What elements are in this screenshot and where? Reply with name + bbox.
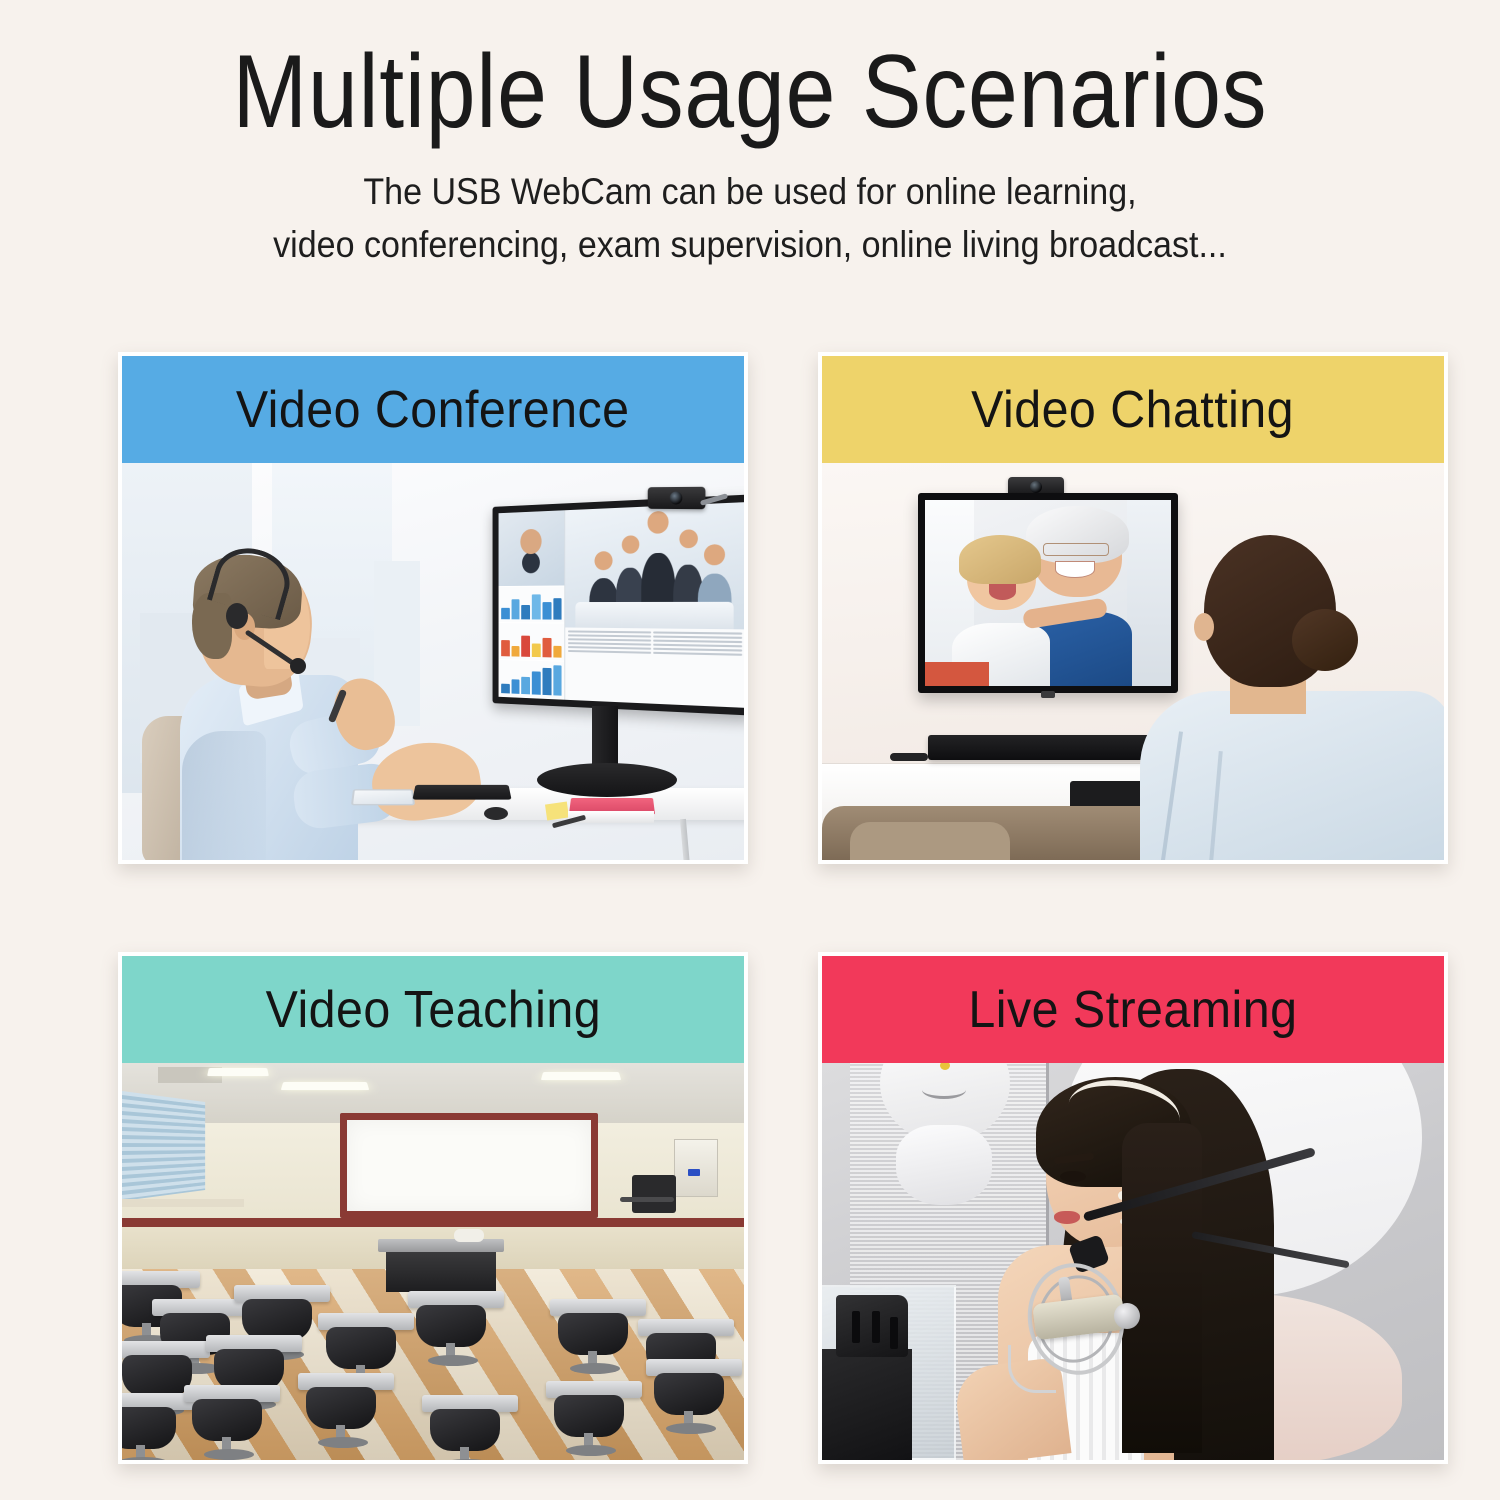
- tv-screen: [925, 500, 1171, 686]
- grandmother-glasses: [1043, 543, 1109, 556]
- photo-video-teaching: [122, 1063, 744, 1460]
- streamer-eye: [1060, 1171, 1086, 1182]
- man-shirt-shading: [182, 731, 266, 860]
- tv-remote: [890, 753, 928, 761]
- sofa-cushion: [850, 822, 1010, 860]
- card-label-live-streaming: Live Streaming: [968, 980, 1297, 1040]
- photo-live-streaming: [822, 1063, 1444, 1460]
- card-header-video-teaching: Video Teaching: [122, 956, 744, 1063]
- whiteboard: [340, 1113, 598, 1218]
- tv-brand-logo: [1041, 691, 1055, 698]
- page-header: Multiple Usage Scenarios The USB WebCam …: [0, 0, 1500, 272]
- headset-mic-capsule-icon: [290, 658, 306, 674]
- card-header-live-streaming: Live Streaming: [822, 956, 1444, 1063]
- sidebar-bar-chart-1: [499, 586, 565, 624]
- card-header-video-conference: Video Conference: [122, 356, 744, 463]
- student-desk: [298, 1373, 394, 1447]
- wall-trim: [122, 1218, 744, 1227]
- desk-keyboard: [412, 785, 511, 800]
- scenario-card-video-teaching[interactable]: Video Teaching: [118, 952, 748, 1464]
- desk-tablet: [351, 789, 415, 805]
- equipment-mount-clamp: [836, 1295, 908, 1357]
- student-desk: [550, 1299, 646, 1373]
- wall-mounted-tv: [918, 493, 1178, 693]
- teacher-desk-top: [378, 1239, 504, 1252]
- desk-mouse: [484, 807, 508, 820]
- monitor-main-panel: [565, 502, 744, 708]
- call-foreground-accent: [925, 662, 989, 686]
- woman-ear: [1194, 613, 1214, 641]
- subtitle-line-2: video conferencing, exam supervision, on…: [60, 219, 1440, 272]
- monitor-screen: [499, 502, 744, 708]
- panel-indicator-icon: [688, 1169, 700, 1176]
- call-background-right: [1127, 500, 1171, 686]
- card-label-video-conference: Video Conference: [236, 380, 630, 440]
- ceiling-light-1: [207, 1068, 269, 1076]
- equipment-vent-slots: [852, 1311, 860, 1343]
- sidebar-area-chart: [499, 660, 565, 700]
- card-header-video-chatting: Video Chatting: [822, 356, 1444, 463]
- desk-object: [454, 1229, 484, 1242]
- teacher-desk-body: [386, 1252, 496, 1292]
- window-sill: [122, 1199, 244, 1207]
- microphone-capsule: [1114, 1303, 1140, 1329]
- text-column-left: [568, 631, 651, 701]
- monitor-base: [537, 763, 677, 797]
- girl-hair: [959, 535, 1040, 583]
- equipment-shadow-block: [822, 1349, 912, 1460]
- monitor-sidebar: [499, 510, 565, 699]
- grandmother-smile: [1055, 561, 1094, 578]
- usage-scenarios-page: Multiple Usage Scenarios The USB WebCam …: [0, 0, 1500, 1500]
- streamer-lips: [1054, 1211, 1080, 1224]
- desktop-monitor: [493, 494, 744, 715]
- conference-text-panels: [565, 628, 744, 708]
- desk-leg-right: [680, 819, 690, 860]
- card-label-video-chatting: Video Chatting: [972, 380, 1295, 440]
- window-blinds: [122, 1091, 205, 1201]
- student-desk: [546, 1381, 642, 1455]
- ceiling-light-3: [541, 1072, 621, 1080]
- woman-body: [1140, 691, 1444, 860]
- scenario-card-video-chatting[interactable]: Video Chatting: [818, 352, 1448, 864]
- wall-mounted-monitor: [632, 1175, 676, 1213]
- soundbar: [928, 735, 1150, 760]
- woman-hair-bun: [1292, 609, 1358, 671]
- subtitle-line-1: The USB WebCam can be used for online le…: [60, 166, 1440, 219]
- student-desk: [646, 1359, 742, 1433]
- scenario-card-grid: Video Conference: [118, 352, 1428, 1464]
- page-subtitle: The USB WebCam can be used for online le…: [60, 166, 1440, 271]
- wall-control-panel: [674, 1139, 718, 1197]
- student-desk: [408, 1291, 504, 1365]
- plush-body: [896, 1125, 992, 1205]
- conference-video-feed: [565, 502, 744, 630]
- teacher-desk: [378, 1239, 504, 1297]
- monitor-mount-arm: [620, 1197, 674, 1202]
- student-desk: [422, 1395, 518, 1460]
- text-column-right: [653, 632, 742, 705]
- plush-smile: [922, 1081, 966, 1099]
- sticky-note: [545, 802, 569, 821]
- ceiling-light-2: [281, 1082, 370, 1090]
- streamer-hair-side: [1122, 1123, 1202, 1453]
- conference-table: [575, 602, 733, 630]
- photo-video-conference: [122, 463, 744, 860]
- participant-thumbnail: [499, 510, 565, 586]
- scenario-card-video-conference[interactable]: Video Conference: [118, 352, 748, 864]
- page-title: Multiple Usage Scenarios: [105, 34, 1395, 150]
- usb-webcam-device: [648, 487, 706, 509]
- scenario-card-live-streaming[interactable]: Live Streaming: [818, 952, 1448, 1464]
- card-label-video-teaching: Video Teaching: [265, 980, 600, 1040]
- sidebar-bar-chart-2: [499, 623, 565, 661]
- headset-earcup-icon: [226, 603, 248, 629]
- photo-video-chatting: [822, 463, 1444, 860]
- student-desk: [184, 1385, 280, 1459]
